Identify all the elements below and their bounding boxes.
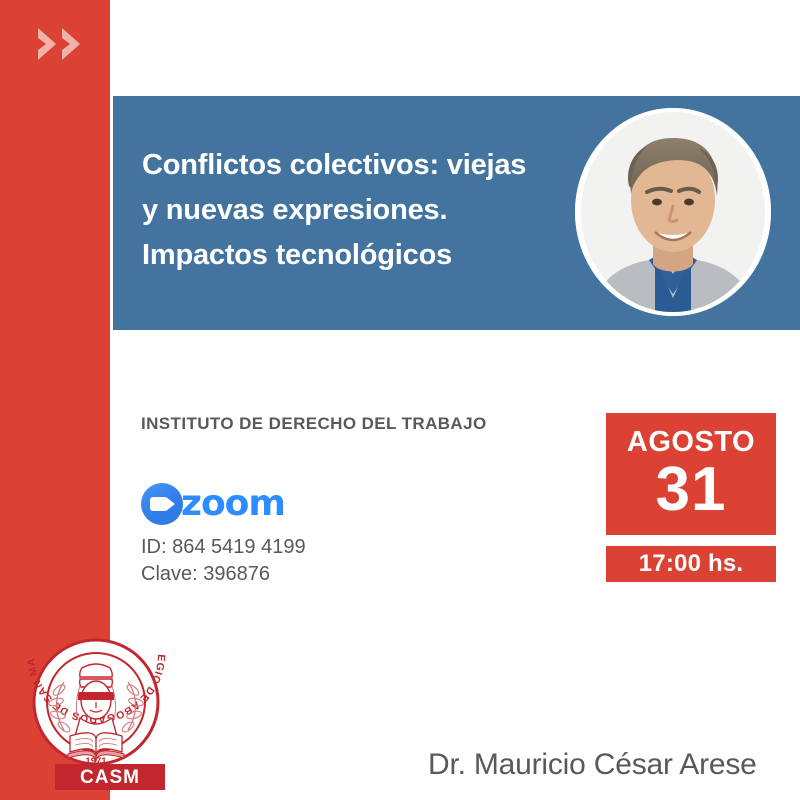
title-banner: Conflictos colectivos: viejas y nuevas e…: [113, 96, 800, 330]
zoom-info-block: zoom ID: 864 5419 4199 Clave: 396876: [141, 483, 306, 588]
date-month: AGOSTO: [606, 413, 776, 457]
title-line-2: y nuevas expresiones.: [142, 188, 582, 233]
double-chevron-right-icon: [34, 22, 94, 66]
zoom-meeting-id: ID: 864 5419 4199: [141, 534, 306, 561]
date-day: 31: [606, 457, 776, 523]
seal-banner-label: CASM: [80, 767, 140, 788]
speaker-name: Dr. Mauricio César Arese: [428, 748, 757, 782]
zoom-wordmark: zoom: [181, 486, 285, 522]
event-title: Conflictos colectivos: viejas y nuevas e…: [142, 143, 582, 278]
casm-seal-logo: COLEGIO DE ABOGADOS DE SAN MARTÍN: [20, 638, 172, 793]
zoom-passcode: Clave: 396876: [141, 561, 306, 588]
title-line-3: Impactos tecnológicos: [142, 233, 582, 278]
zoom-logo: zoom: [141, 483, 306, 525]
time-badge: 17:00 hs.: [606, 546, 776, 582]
speaker-portrait-avatar: [575, 108, 771, 316]
title-line-1: Conflictos colectivos: viejas: [142, 143, 582, 188]
event-flyer: Conflictos colectivos: viejas y nuevas e…: [0, 0, 800, 800]
institute-name: INSTITUTO DE DERECHO DEL TRABAJO: [141, 414, 487, 434]
video-camera-icon: [141, 483, 183, 525]
date-badge: AGOSTO 31: [606, 413, 776, 535]
